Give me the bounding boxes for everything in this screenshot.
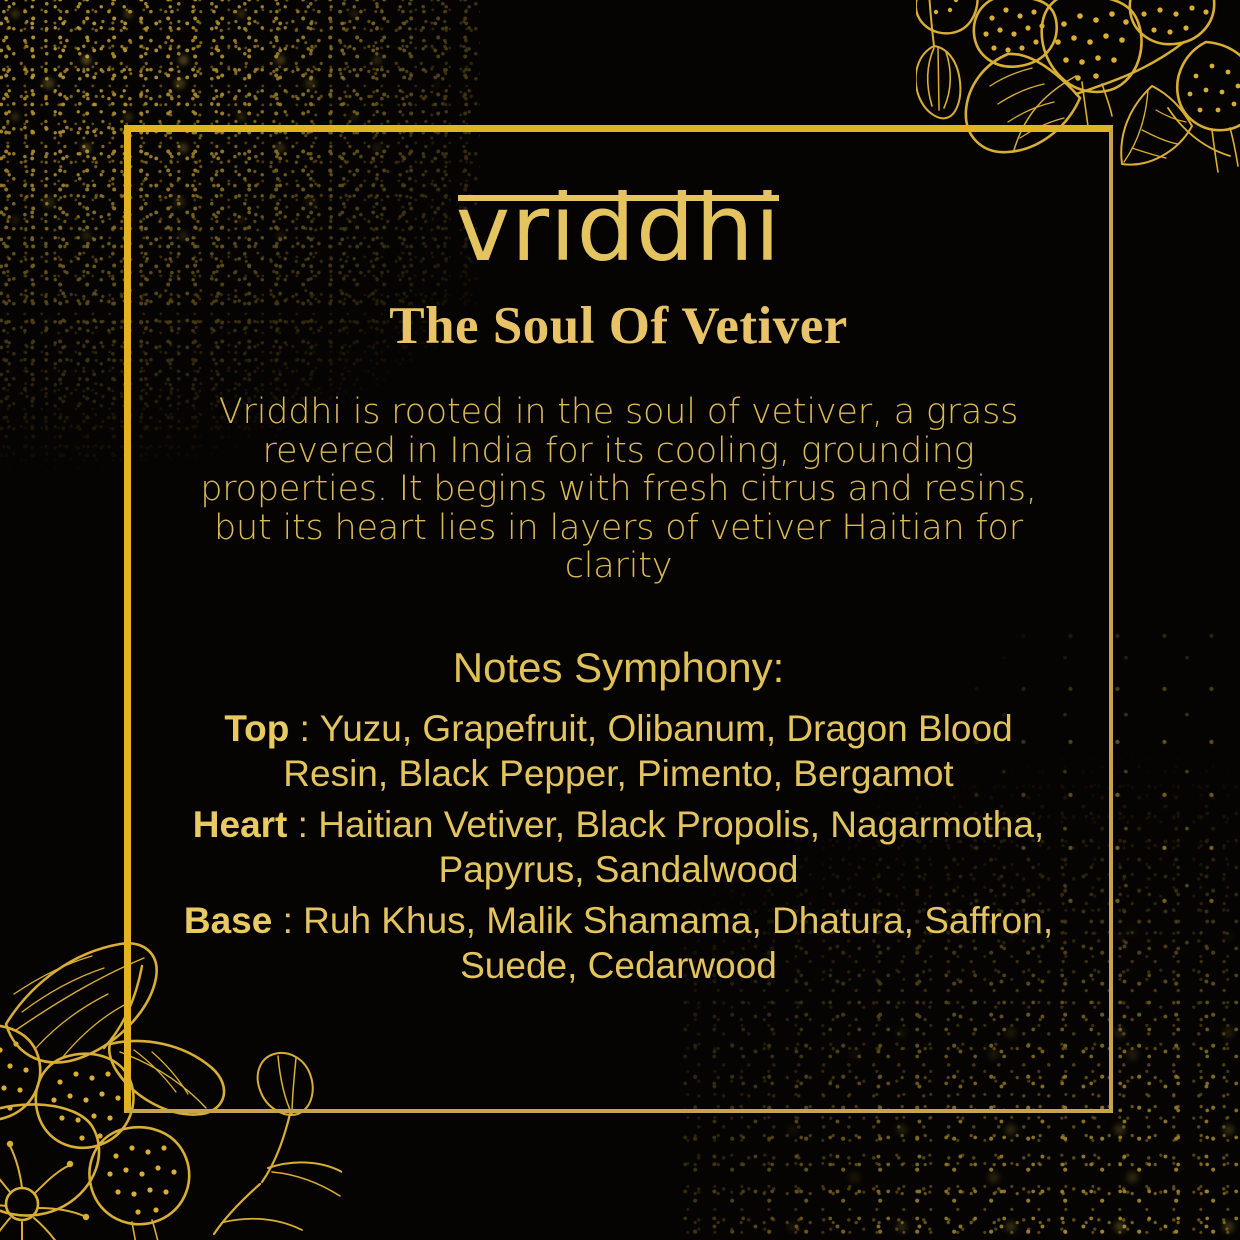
note-label-base: Base [184, 900, 272, 941]
perfume-brand-card: vriddhi The Soul Of Vetiver Vriddhi is r… [0, 0, 1240, 1240]
note-label-top: Top [224, 708, 289, 749]
card-content: vriddhi The Soul Of Vetiver Vriddhi is r… [124, 125, 1113, 1113]
note-separator-base: : [272, 900, 303, 941]
note-separator-top: : [289, 708, 319, 749]
note-line-top: Top : Yuzu, Grapefruit, Olibanum, Dragon… [179, 706, 1059, 796]
brand-logo: vriddhi [456, 177, 782, 275]
note-line-base: Base : Ruh Khus, Malik Shamama, Dhatura,… [179, 898, 1059, 988]
brand-logo-text: vriddhi [456, 183, 782, 275]
note-value-base: Ruh Khus, Malik Shamama, Dhatura, Saffro… [303, 900, 1053, 986]
tagline: The Soul Of Vetiver [389, 297, 848, 355]
note-separator-heart: : [287, 804, 318, 845]
note-line-heart: Heart : Haitian Vetiver, Black Propolis,… [179, 802, 1059, 892]
note-label-heart: Heart [193, 804, 288, 845]
notes-heading: Notes Symphony: [453, 644, 785, 692]
note-value-heart: Haitian Vetiver, Black Propolis, Nagarmo… [318, 804, 1044, 890]
description-paragraph: Vriddhi is rooted in the soul of vetiver… [179, 393, 1059, 586]
note-value-top: Yuzu, Grapefruit, Olibanum, Dragon Blood… [283, 708, 1012, 794]
